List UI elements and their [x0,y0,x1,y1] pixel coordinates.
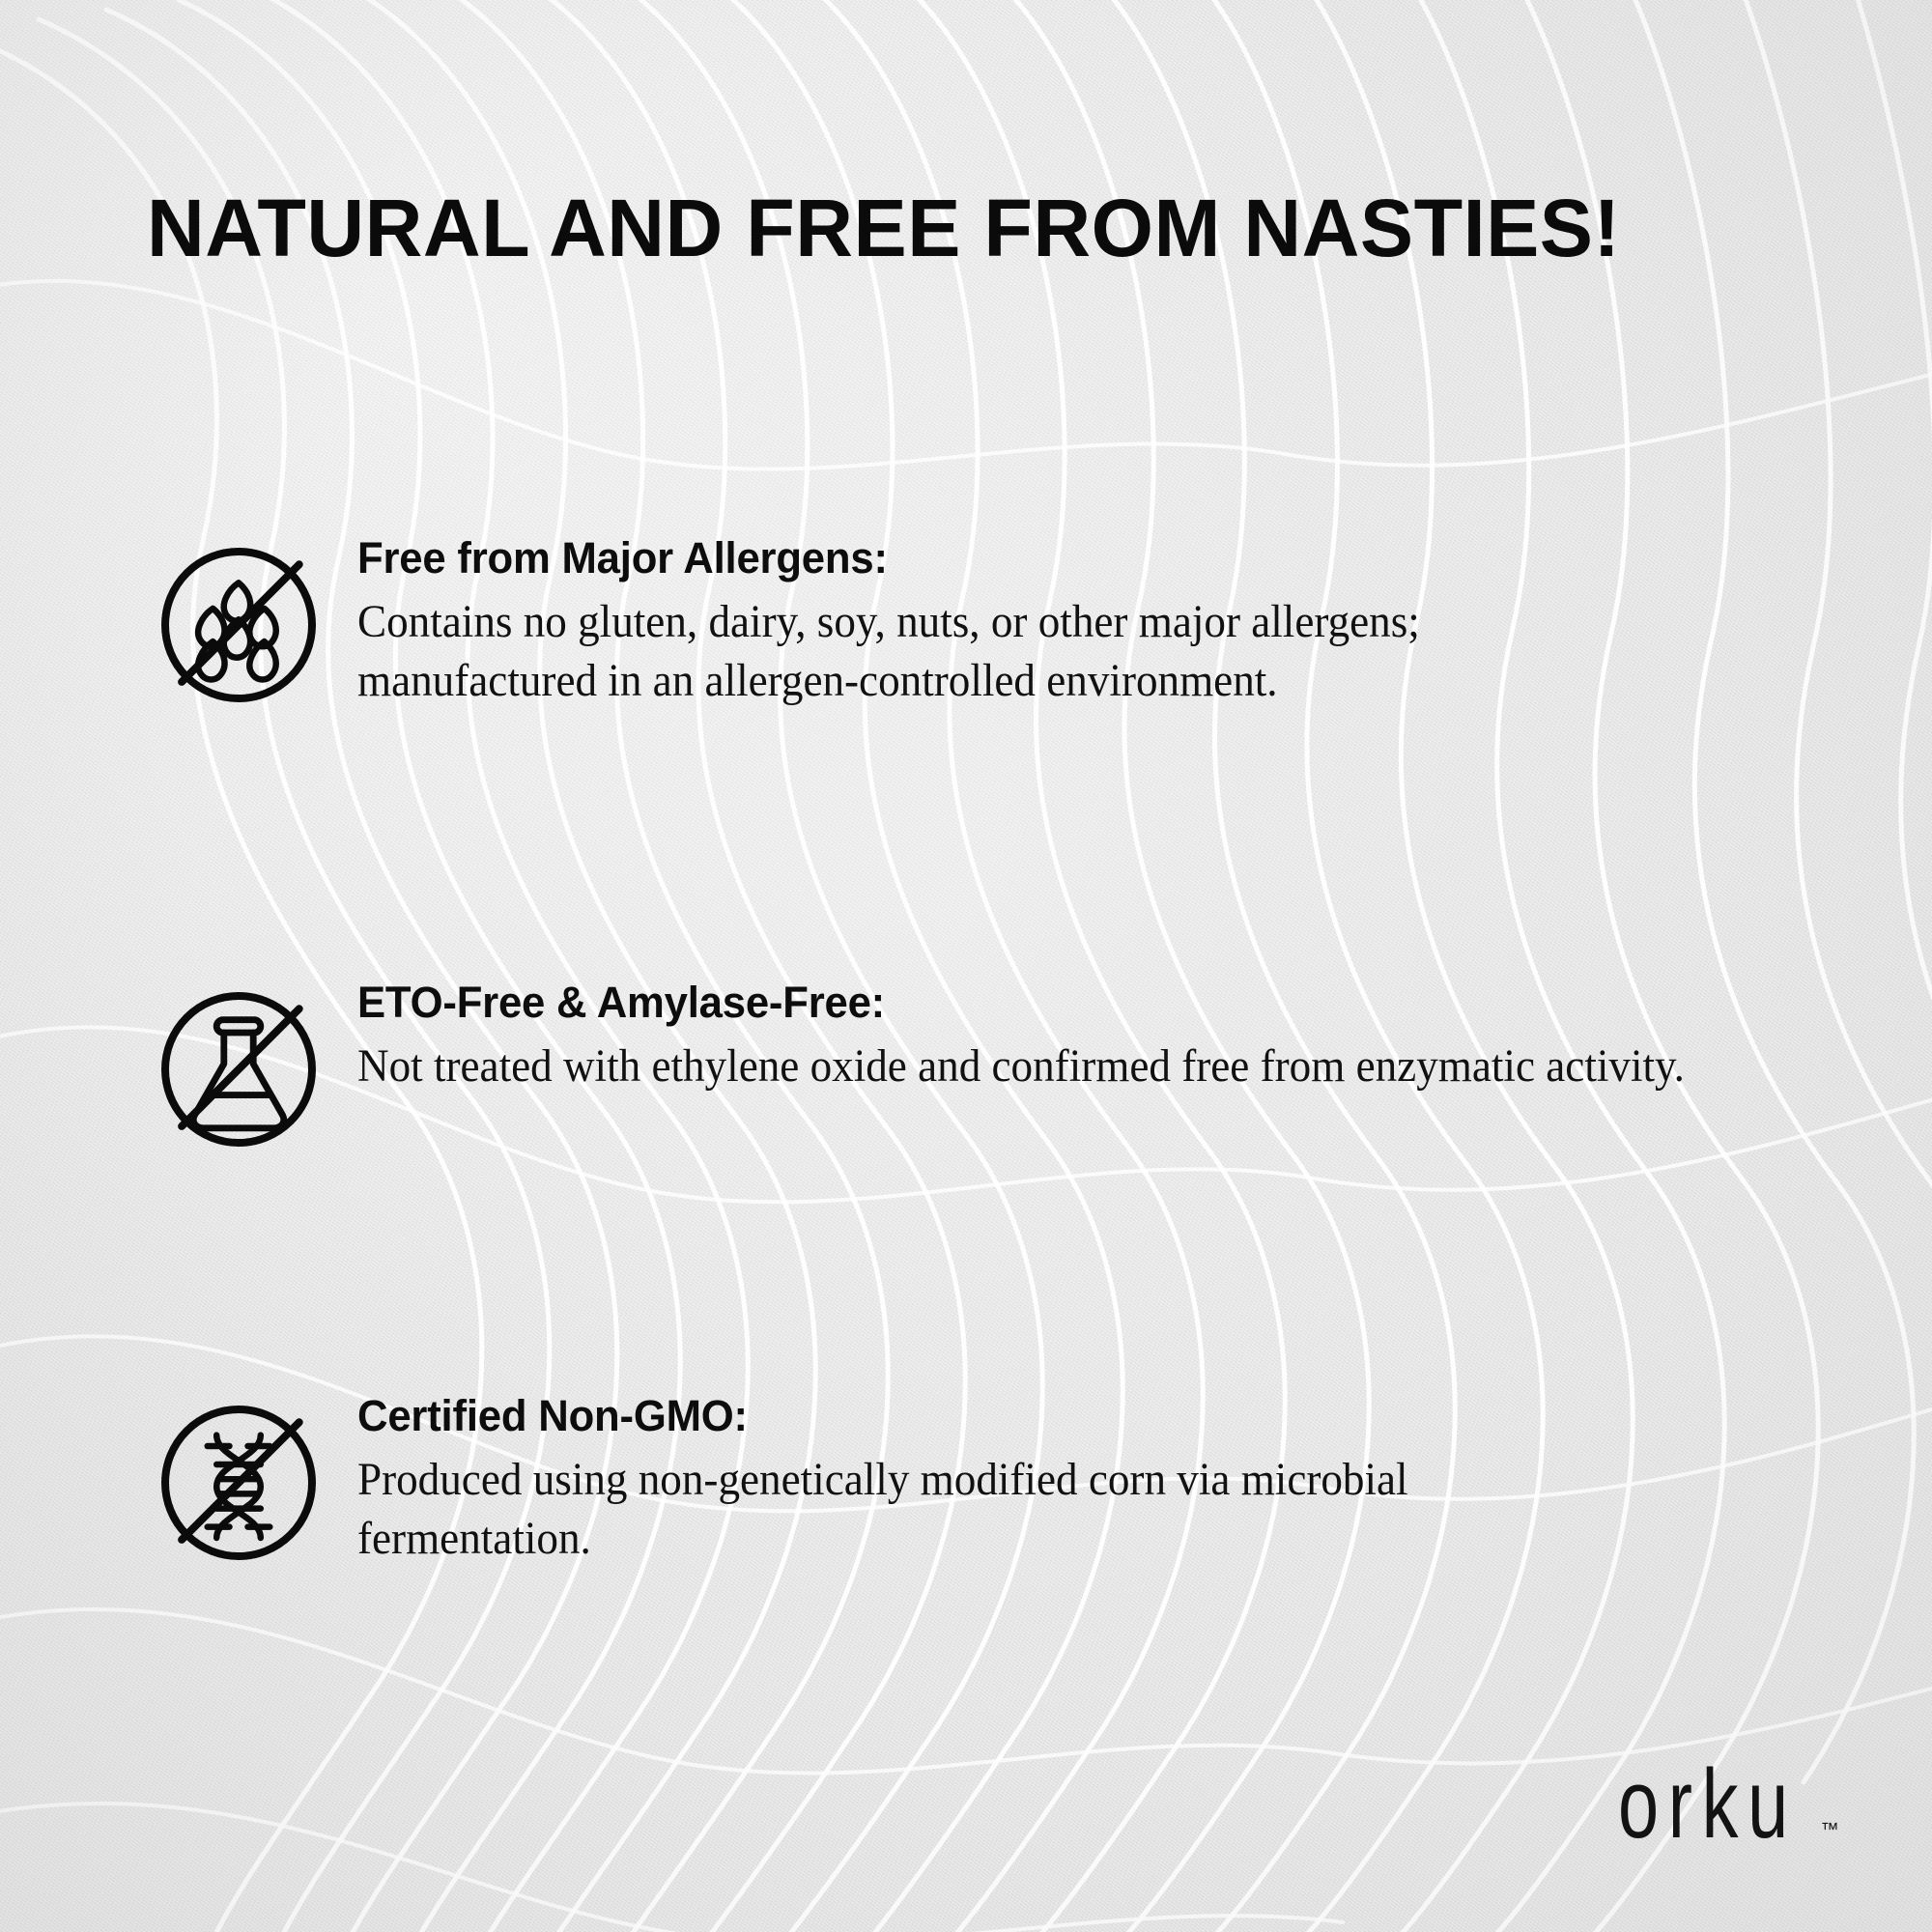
feature-item-eto-amylase: ETO-Free & Amylase-Free: Not treated wit… [147,978,1847,1171]
feature-item-allergens: Free from Major Allergens: Contains no g… [147,533,1847,726]
poster-canvas: NATURAL AND FREE FROM NASTIES! [0,0,1932,1932]
brand-logo: orku ™ [1618,1775,1839,1849]
trademark-symbol: ™ [1821,1820,1840,1841]
background-topographic-contours [0,0,1932,1932]
feature-heading: ETO-Free & Amylase-Free: [357,980,1803,1027]
feature-body: Contains no gluten, dairy, soy, nuts, or… [357,592,1529,711]
page-title: NATURAL AND FREE FROM NASTIES! [147,187,1803,269]
feature-text-non-gmo: Certified Non-GMO: Produced using non-ge… [357,1391,1847,1568]
background-paper-texture [0,0,1932,1932]
feature-body: Produced using non-genetically modified … [357,1450,1565,1569]
no-gmo-dna-icon [147,1391,340,1584]
feature-item-non-gmo: Certified Non-GMO: Produced using non-ge… [147,1391,1847,1584]
feature-body: Not treated with ethylene oxide and conf… [357,1037,1701,1095]
feature-text-eto-amylase: ETO-Free & Amylase-Free: Not treated wit… [357,978,1847,1095]
brand-wordmark: orku [1618,1761,1798,1849]
background-base [0,0,1932,1932]
no-chemical-flask-icon [147,978,340,1171]
feature-text-allergens: Free from Major Allergens: Contains no g… [357,533,1847,710]
feature-heading: Certified Non-GMO: [357,1393,1803,1440]
feature-heading: Free from Major Allergens: [357,535,1803,582]
background-vignette [0,0,1932,1932]
no-allergens-grain-icon [147,533,340,726]
